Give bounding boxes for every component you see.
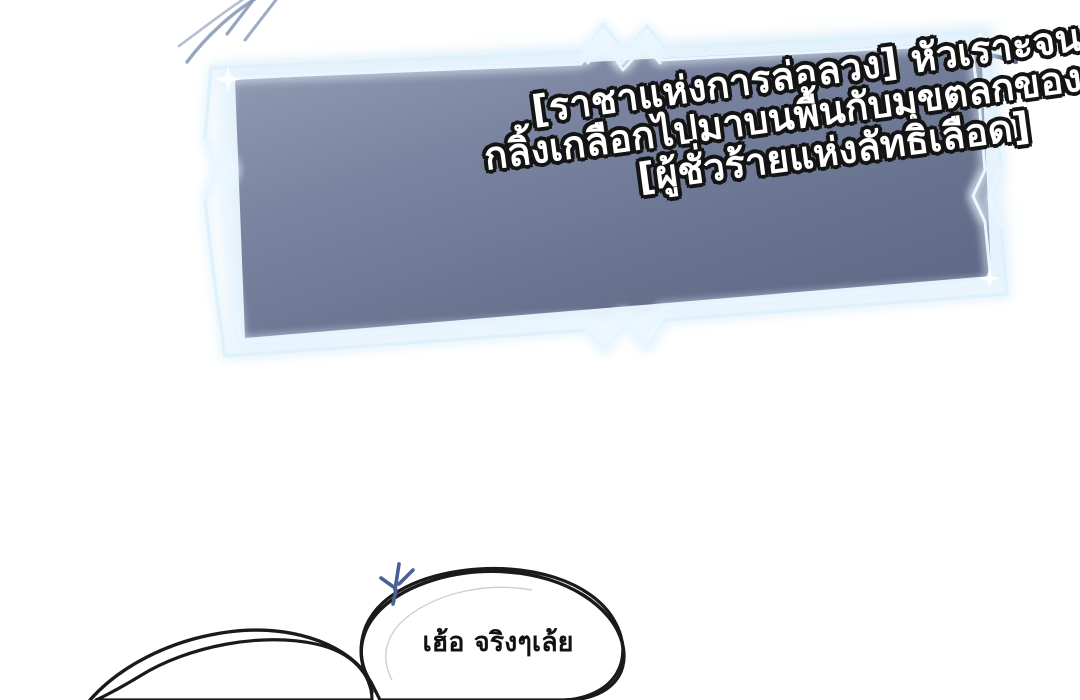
speech-bubble-main-text: เฮ้อ จริงๆเล้ย (383, 620, 613, 663)
sigh-mark-icon (373, 556, 429, 612)
narration-banner: [ราชาแห่งการล่อลวง] หัวเราะจน กลิ้งเกลือ… (195, 18, 1025, 378)
speech-bubble-secondary (96, 640, 372, 700)
comic-panel: [ราชาแห่งการล่อลวง] หัวเราะจน กลิ้งเกลือ… (0, 0, 1080, 700)
